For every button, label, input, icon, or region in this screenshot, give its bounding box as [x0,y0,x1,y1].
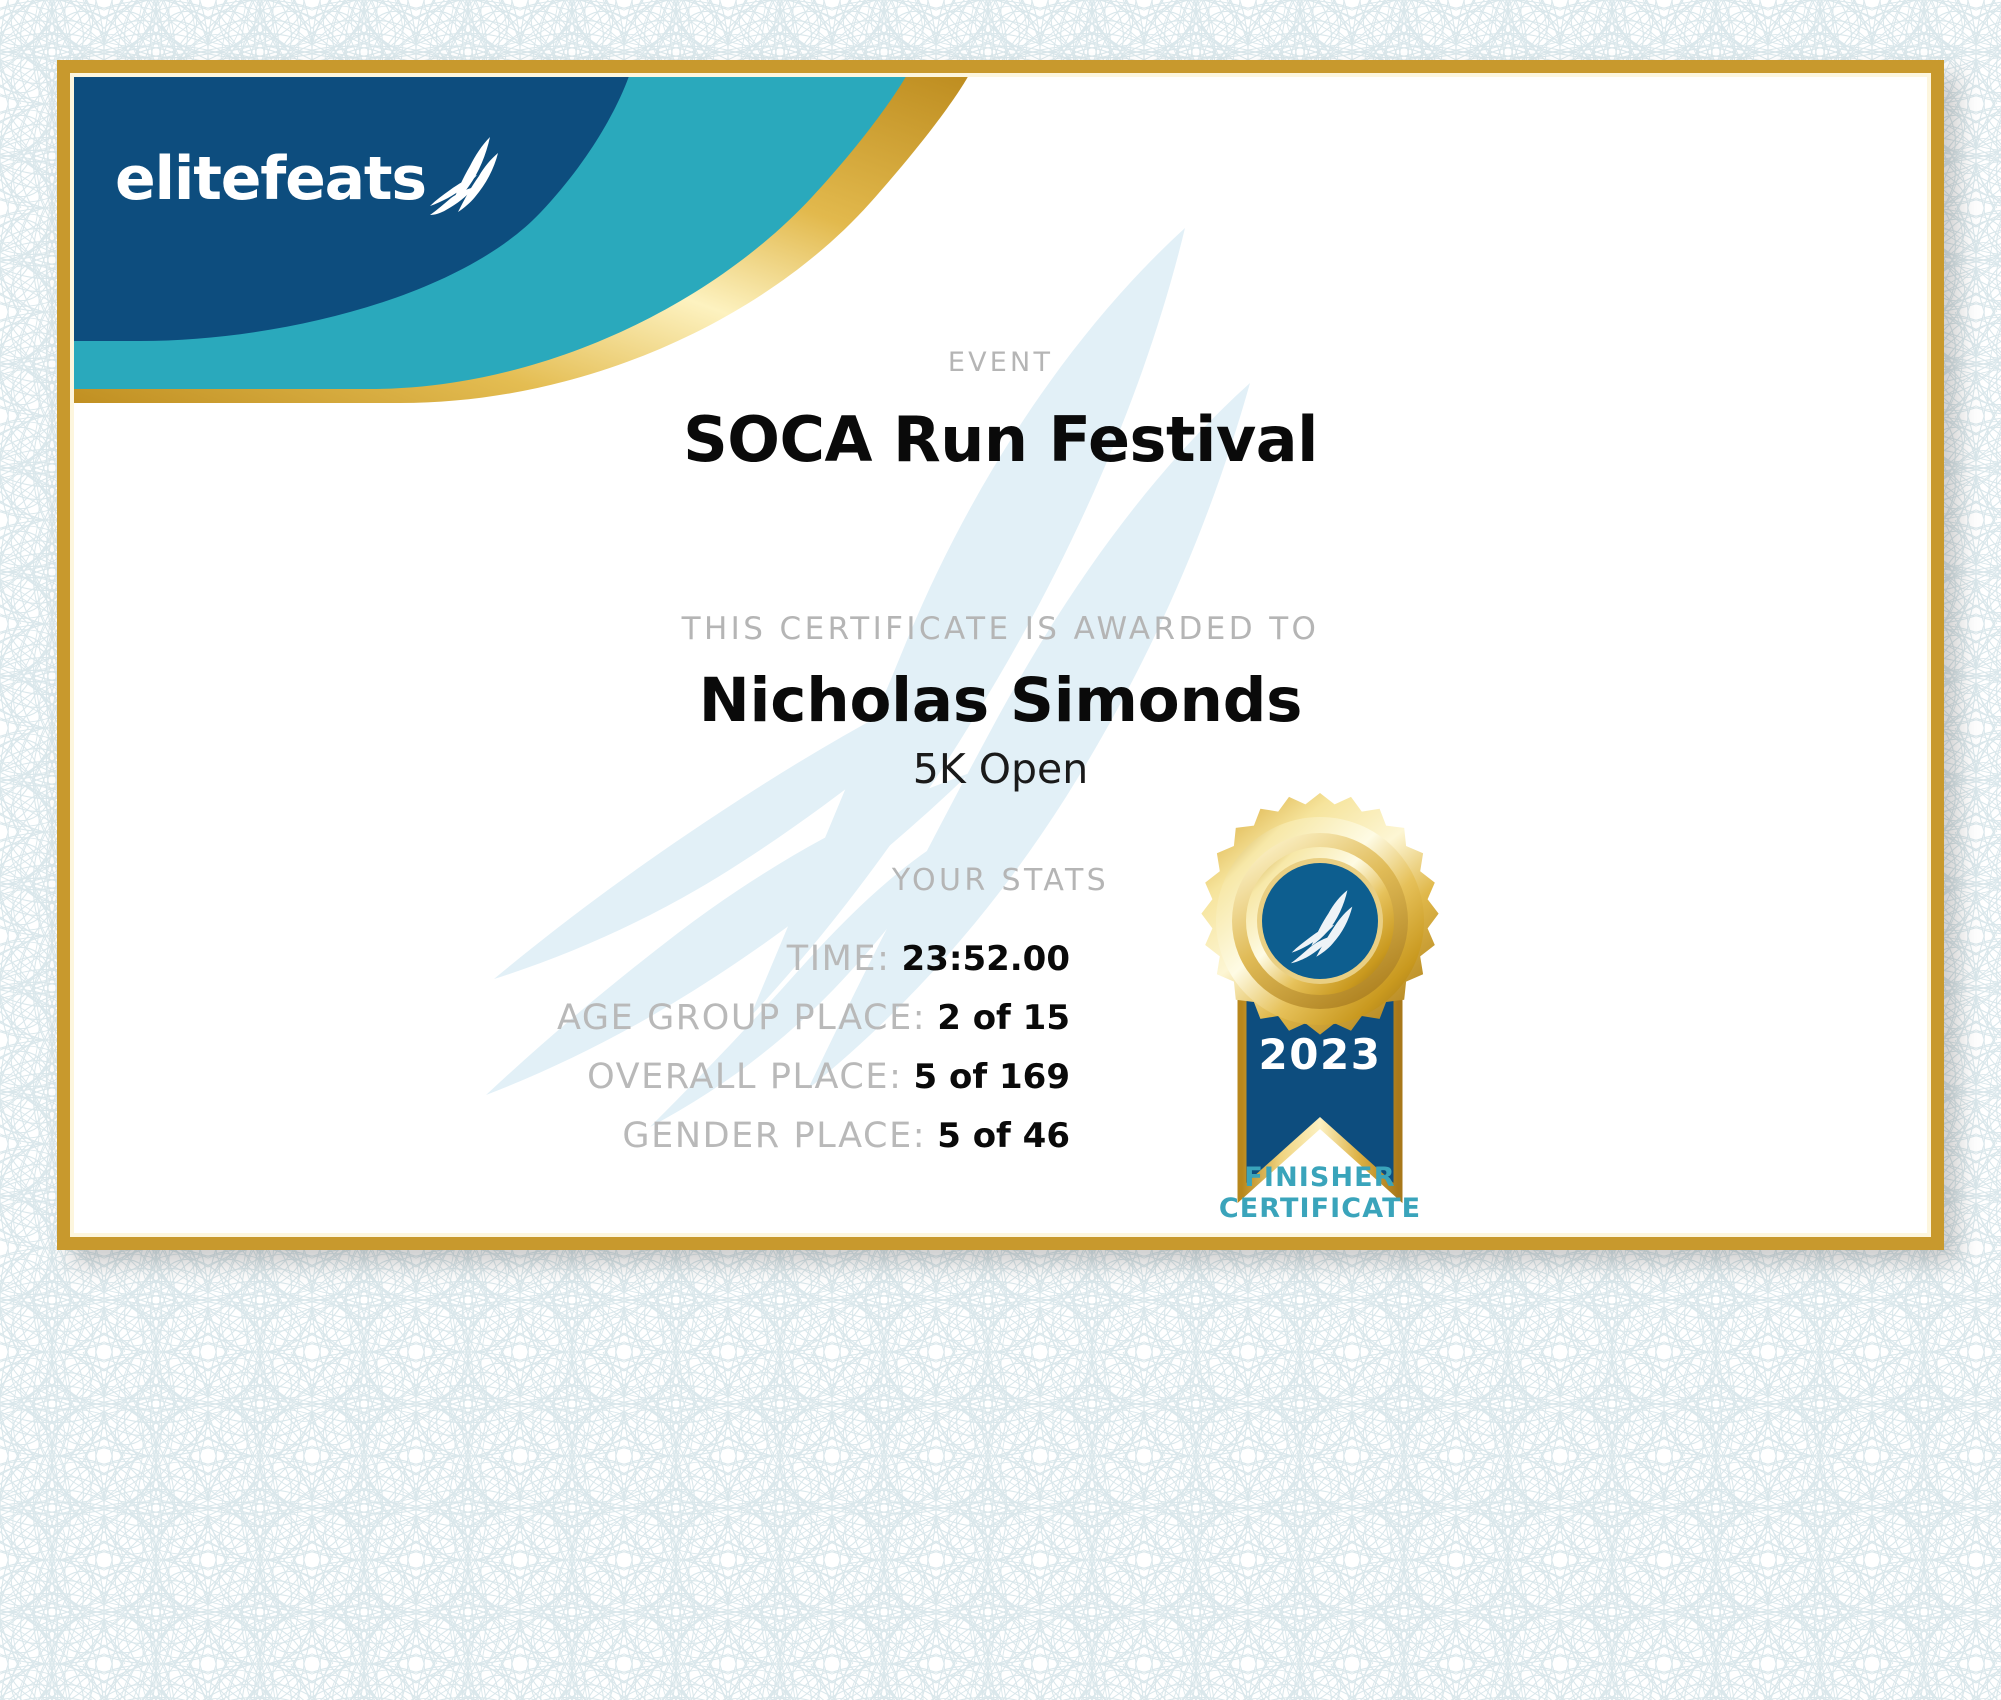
event-name: SOCA Run Festival [70,403,1931,476]
event-label: EVENT [70,347,1931,378]
medal-year: 2023 [1259,1030,1382,1079]
stat-row: OVERALL PLACE: 5 of 169 [70,1057,1070,1097]
recipient-name: Nicholas Simonds [70,665,1931,736]
division-name: 5K Open [70,745,1931,793]
stat-label: AGE GROUP PLACE: [557,998,926,1038]
stat-value: 2 of 15 [937,998,1070,1038]
stat-value: 5 of 46 [937,1116,1070,1156]
elitefeats-logo: elitefeats [115,135,506,209]
stat-row: TIME: 23:52.00 [70,939,1070,979]
stat-value: 23:52.00 [902,939,1070,979]
gold-certificate-frame: elitefeats EVENT SOCA Run Festival THIS … [57,60,1944,1250]
stat-label: GENDER PLACE: [622,1116,926,1156]
seal-caption-line1: FINISHER [1170,1163,1470,1194]
stat-label: OVERALL PLACE: [587,1057,902,1097]
stat-value: 5 of 169 [914,1057,1070,1097]
certificate-body: elitefeats EVENT SOCA Run Festival THIS … [70,73,1931,1237]
medal-starburst [1201,793,1438,1035]
awarded-to-label: THIS CERTIFICATE IS AWARDED TO [70,611,1931,647]
stats-list: TIME: 23:52.00 AGE GROUP PLACE: 2 of 15 … [70,939,1070,1175]
stat-row: GENDER PLACE: 5 of 46 [70,1116,1070,1156]
stat-row: AGE GROUP PLACE: 2 of 15 [70,998,1070,1038]
seal-caption-line2: CERTIFICATE [1170,1194,1470,1225]
logo-wordmark: elitefeats [115,149,426,209]
certificate-page: elitefeats EVENT SOCA Run Festival THIS … [0,0,2001,1700]
winged-foot-icon [428,135,506,215]
seal-caption: FINISHER CERTIFICATE [1170,1163,1470,1225]
stat-label: TIME: [787,939,891,979]
your-stats-label: YOUR STATS [70,863,1931,898]
